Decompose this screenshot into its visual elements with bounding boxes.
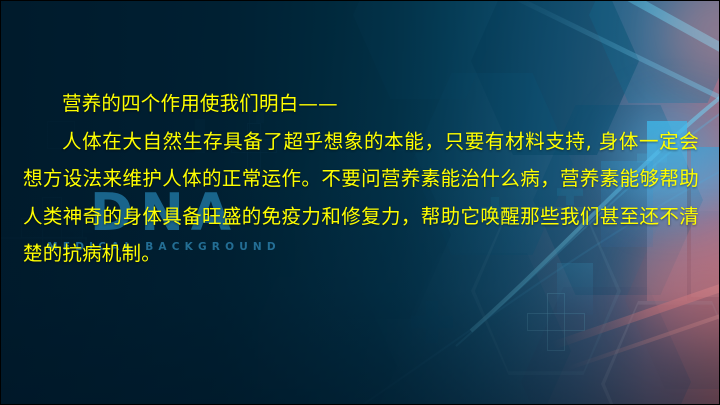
presentation-slide: DNA MEDICAL BACKGROUND 营养的四个作用使我们明白—— 人体… — [0, 0, 720, 405]
medical-cross-outline-icon — [527, 293, 585, 351]
glow-accent — [661, 0, 720, 81]
diagonal-light-streak — [566, 295, 720, 370]
hexagon-shape — [395, 253, 571, 405]
hexagon-shape — [237, 277, 397, 405]
hexagon-outline-shape — [601, 301, 720, 405]
medical-cross-icon — [411, 301, 453, 343]
paragraph-1: 营养的四个作用使我们明白—— — [23, 85, 699, 123]
hexagon-shape — [521, 287, 691, 405]
slide-body-text: 营养的四个作用使我们明白—— 人体在大自然生存具备了超乎想象的本能，只要有材料支… — [23, 85, 699, 273]
paragraph-2: 人体在大自然生存具备了超乎想象的本能，只要有材料支持, 身体一定会想方设法来维护… — [23, 123, 699, 273]
diagonal-light-streak — [552, 261, 720, 350]
circuit-line — [1, 127, 3, 175]
